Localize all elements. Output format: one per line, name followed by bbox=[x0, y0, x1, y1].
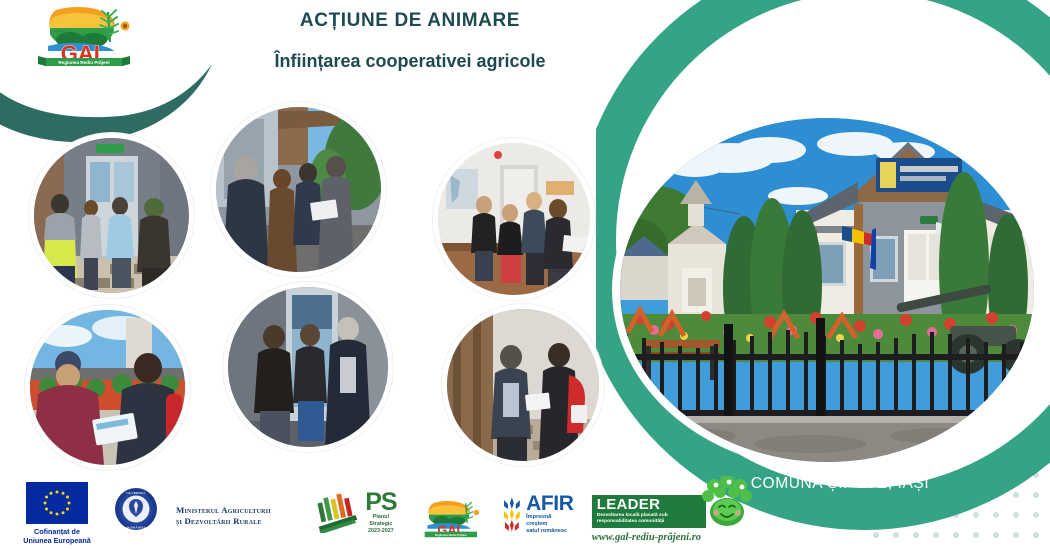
leader-badge: LEADER Dezvoltarea locală plasată sub re… bbox=[592, 495, 706, 528]
eu-caption-line2: Uniunea Europeană bbox=[23, 536, 91, 545]
eu-logo: Cofinanțat de Uniunea Europeană bbox=[18, 482, 96, 545]
ministry-line1: Ministerul Agriculturii bbox=[176, 505, 298, 516]
poster-canvas: GAL Regiunea Rediu Prăjeni ACȚIUNE DE AN… bbox=[0, 0, 1050, 549]
ministry-label: Ministerul Agriculturii și Dezvoltării R… bbox=[176, 505, 298, 545]
romania-seal-icon: GUVERNUL ROMÂNIEI bbox=[114, 487, 158, 531]
gallery-photo bbox=[30, 310, 185, 465]
leader-sub-line2: responsabilitatea comunității bbox=[597, 519, 701, 525]
afir-slogan-line1: Împreună creștem bbox=[526, 514, 574, 528]
clover-mascot-icon bbox=[700, 476, 754, 528]
gallery-photo bbox=[34, 138, 189, 293]
ps-caption-line2: 2023-2027 bbox=[368, 528, 394, 535]
date-badge: I8 SEPTEMBRIE 2025 bbox=[716, 28, 976, 47]
leader-word: LEADER bbox=[597, 497, 701, 513]
gal-logo: GAL Regiunea Rediu Prăjeni bbox=[30, 4, 138, 66]
ps-caption-line1: Planul Strategic bbox=[361, 514, 400, 528]
strategic-plan-logo: PS Planul Strategic 2023-2027 bbox=[316, 490, 401, 545]
page-subtitle: Înființarea cooperativei agricole bbox=[180, 48, 640, 74]
leader-logo-group: LEADER Dezvoltarea locală plasată sub re… bbox=[592, 476, 754, 545]
gal-footer-logo: GAL Regiunea Rediu Prăjeni bbox=[419, 499, 483, 545]
header-title-block: ACȚIUNE DE ANIMARE Înființarea cooperati… bbox=[180, 8, 640, 74]
svg-text:ROMÂNIEI: ROMÂNIEI bbox=[127, 525, 146, 530]
afir-slogan-line2: satul românesc bbox=[526, 528, 574, 535]
afir-acronym: AFIR bbox=[526, 494, 574, 514]
gallery-photo bbox=[216, 107, 381, 272]
ps-acronym: PS bbox=[365, 490, 396, 514]
dot-grid-top-right-icon bbox=[900, 0, 1050, 150]
footer-logos: Cofinanțat de Uniunea Europeană GUVERNUL bbox=[0, 477, 740, 549]
gallery-photo bbox=[228, 287, 388, 447]
eu-caption-line1: Cofinanțat de bbox=[34, 527, 80, 536]
eu-caption: Cofinanțat de Uniunea Europeană bbox=[18, 527, 96, 545]
eu-flag-icon bbox=[26, 482, 88, 524]
svg-text:GUVERNUL: GUVERNUL bbox=[126, 491, 146, 495]
gallery-photo bbox=[447, 309, 599, 461]
svg-text:Regiunea Rediu Prăjeni: Regiunea Rediu Prăjeni bbox=[58, 60, 109, 65]
ministry-line2: și Dezvoltării Rurale bbox=[176, 516, 298, 527]
website-url: www.gal-rediu-prăjeni.ro bbox=[592, 532, 754, 543]
svg-text:Regiunea Rediu Prăjeni: Regiunea Rediu Prăjeni bbox=[435, 533, 467, 537]
gallery-photo bbox=[438, 143, 590, 295]
afir-logo: AFIR Împreună creștem satul românesc bbox=[500, 494, 573, 545]
main-photo bbox=[620, 118, 1034, 462]
page-title: ACȚIUNE DE ANIMARE bbox=[180, 8, 640, 34]
government-seal-logo: GUVERNUL ROMÂNIEI bbox=[114, 487, 158, 545]
